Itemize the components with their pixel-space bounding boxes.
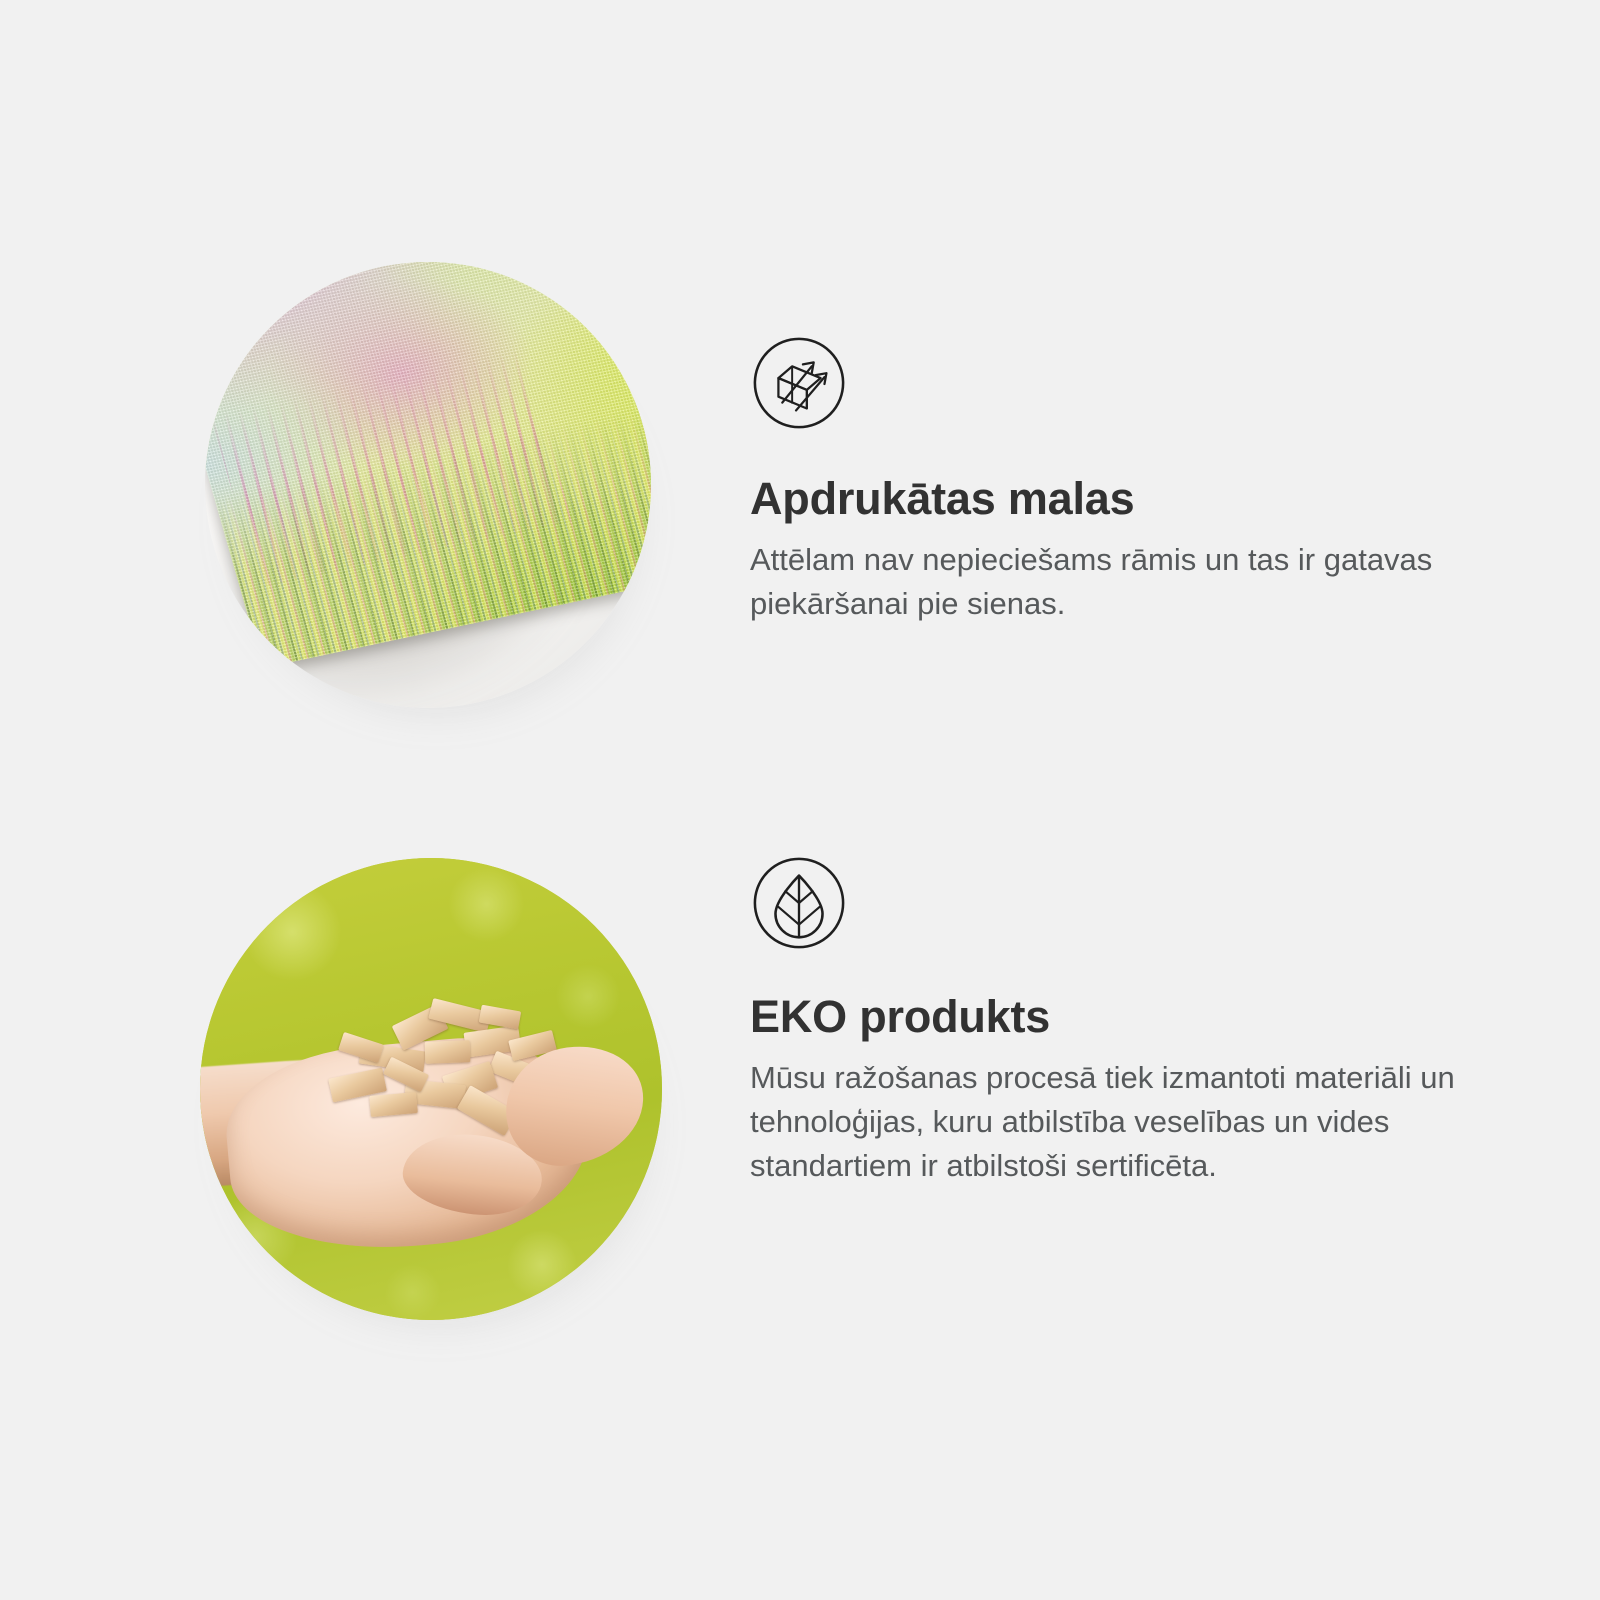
eco-scene [200, 858, 662, 1320]
feature-block-printed-edges: Apdrukātas malas Attēlam nav nepieciešam… [0, 0, 1600, 800]
feature-description-eco-product: Mūsu ražošanas procesā tiek izmantoti ma… [750, 1056, 1470, 1188]
page-title-printed-edges: Apdrukātas malas [750, 474, 1490, 524]
feature-image-eco-product [200, 858, 662, 1320]
infographic-page: Apdrukātas malas Attēlam nav nepieciešam… [0, 0, 1600, 1600]
canvas-scene [205, 262, 651, 708]
page-title-eco-product: EKO produkts [750, 992, 1490, 1042]
hand-holding-wood-chips-photo [200, 858, 662, 1320]
feature-block-eco-product: EKO produkts Mūsu ražošanas procesā tiek… [0, 800, 1600, 1600]
feature-description-printed-edges: Attēlam nav nepieciešams rāmis un tas ir… [750, 538, 1470, 626]
canvas-print-corner-photo [205, 262, 651, 708]
feature-text-eco-product: EKO produkts Mūsu ražošanas procesā tiek… [750, 854, 1490, 1188]
feature-text-printed-edges: Apdrukātas malas Attēlam nav nepieciešam… [750, 334, 1490, 626]
leaf-icon [750, 854, 848, 952]
canvas-wrapped-edges-icon [750, 334, 848, 432]
feature-image-printed-edges [205, 262, 651, 708]
